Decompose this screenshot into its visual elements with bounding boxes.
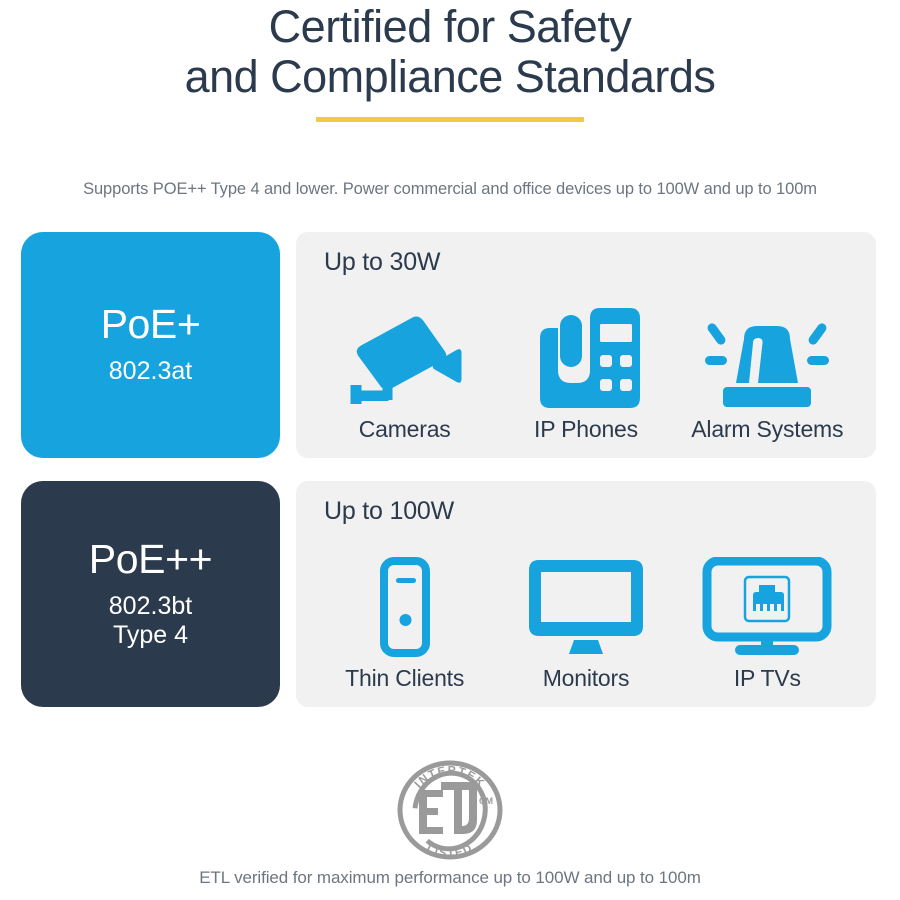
monitor-icon: [523, 554, 649, 659]
device-label: IP Phones: [534, 416, 638, 443]
tier-name: PoE+: [101, 304, 201, 345]
siren-alarm-icon: [687, 305, 847, 410]
logo-bottom-arc-text: LISTED: [425, 842, 476, 860]
security-camera-icon: [341, 305, 469, 410]
certification-caption: ETL verified for maximum performance up …: [0, 868, 900, 888]
panel-heading-100w: Up to 100W: [324, 497, 454, 526]
tier-badge-poe-plus: PoE+ 802.3at: [21, 232, 280, 458]
device-label: Thin Clients: [345, 665, 464, 692]
tier-standard: 802.3at: [109, 357, 192, 386]
infographic-page: Certified for Safety and Compliance Stan…: [0, 0, 900, 900]
svg-text:LISTED: LISTED: [425, 842, 476, 860]
device-ip-phones: IP Phones: [496, 305, 676, 443]
ip-tv-icon: [701, 554, 833, 659]
tier-standard: 802.3bt Type 4: [109, 592, 192, 650]
page-title-line-1: Certified for Safety: [0, 0, 900, 52]
tier-standard-line: Type 4: [109, 621, 192, 650]
page-title-line-2: and Compliance Standards: [0, 52, 900, 102]
header: Certified for Safety and Compliance Stan…: [0, 0, 900, 122]
device-label: Cameras: [359, 416, 451, 443]
devices-panel-100w: Up to 100W Thin Clients: [296, 481, 876, 707]
device-monitors: Monitors: [496, 554, 676, 692]
logo-superscript-cm: CM: [479, 796, 493, 806]
thin-client-tower-icon: [376, 554, 434, 659]
desk-phone-icon: [528, 305, 644, 410]
devices-panel-30w: Up to 30W: [296, 232, 876, 458]
title-accent-rule: [316, 117, 584, 122]
tier-standard-line: 802.3bt: [109, 592, 192, 621]
device-label: IP TVs: [734, 665, 801, 692]
device-ip-tvs: IP TVs: [677, 554, 857, 692]
tier-name: PoE++: [89, 539, 212, 580]
device-thin-clients: Thin Clients: [315, 554, 495, 692]
tier-badge-poe-plus-plus: PoE++ 802.3bt Type 4: [21, 481, 280, 707]
tier-row-poe-plus-plus: PoE++ 802.3bt Type 4 Up to 100W: [0, 481, 900, 707]
subtitle-text: Supports POE++ Type 4 and lower. Power c…: [0, 180, 900, 199]
panel-heading-30w: Up to 30W: [324, 248, 440, 277]
tier-standard-line: 802.3at: [109, 357, 192, 386]
device-grid-100w: Thin Clients Monitors: [314, 537, 858, 692]
device-alarm-systems: Alarm Systems: [677, 305, 857, 443]
device-cameras: Cameras: [315, 305, 495, 443]
device-label: Monitors: [543, 665, 630, 692]
device-grid-30w: Cameras IP Phones: [314, 288, 858, 443]
etl-listed-intertek-logo: INTERTEK LISTED CM: [391, 752, 509, 869]
device-label: Alarm Systems: [691, 416, 843, 443]
certification-logo-wrap: INTERTEK LISTED CM: [0, 752, 900, 869]
tier-row-poe-plus: PoE+ 802.3at Up to 30W: [0, 232, 900, 458]
